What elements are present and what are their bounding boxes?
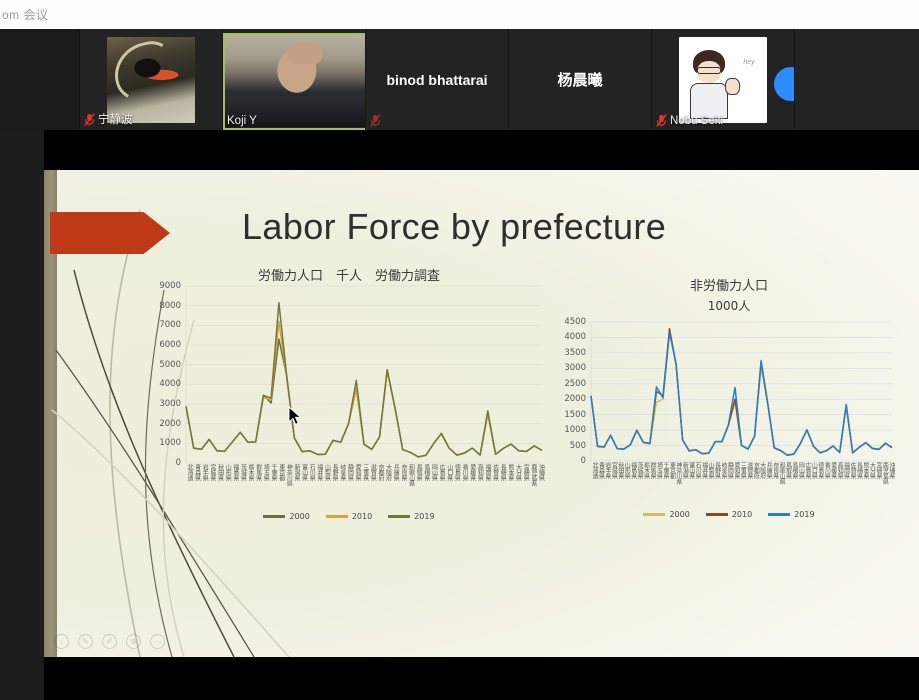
x-axis-tick-label: 鳥取県 bbox=[415, 464, 421, 508]
x-axis-tick-label: 愛媛県 bbox=[469, 464, 475, 508]
x-axis-tick-label: 福井県 bbox=[316, 464, 322, 508]
x-axis-tick-label: 東京都 bbox=[668, 462, 674, 506]
x-axis-tick-label: 京都府 bbox=[377, 464, 383, 508]
participant-tile-3[interactable]: binod bhattarai bbox=[366, 29, 509, 130]
x-axis-tick-label: 山形県 bbox=[623, 462, 629, 506]
participant-tile-2[interactable]: Koji Y bbox=[223, 29, 366, 130]
x-axis-tick-label: 鹿児島県 bbox=[881, 462, 887, 506]
mic-muted-icon bbox=[84, 113, 95, 126]
x-axis-tick-label: 岡山県 bbox=[431, 464, 437, 508]
x-axis-tick-label: 宮城県 bbox=[209, 464, 215, 508]
x-axis-tick-label: 岡山県 bbox=[798, 462, 804, 506]
x-axis-tick-label: 香川県 bbox=[461, 464, 467, 508]
x-axis-tick-label: 京都府 bbox=[752, 462, 758, 506]
pen-tool-icon[interactable]: ✐ bbox=[102, 634, 117, 649]
participant-name: 宁静波 bbox=[98, 111, 133, 127]
x-axis-tick-label: 北海道 bbox=[591, 462, 597, 506]
legend-label: 2010 bbox=[352, 512, 372, 521]
x-axis-tick-label: 栃木県 bbox=[247, 464, 253, 508]
y-axis-tick-label: 3000 bbox=[159, 399, 186, 409]
x-axis-tick-label: 鳥取県 bbox=[785, 462, 791, 506]
x-axis-tick-label: 山形県 bbox=[224, 464, 230, 508]
x-axis-tick-label: 群馬県 bbox=[255, 464, 261, 508]
x-axis-tick-label: 石川県 bbox=[308, 464, 314, 508]
chart-labor-force: 労働力人口 千人 労働力調査 0100020003000400050006000… bbox=[154, 265, 544, 535]
x-axis-tick-label: 静岡県 bbox=[346, 464, 352, 508]
participant-tile-6-avatar[interactable] bbox=[774, 67, 795, 101]
page-title: Labor Force by prefecture bbox=[242, 206, 666, 248]
x-axis-tick-label: 和歌山県 bbox=[778, 462, 784, 506]
chart-non-labor-force: 非労働力人口 1000人 050010001500200025003000350… bbox=[564, 275, 894, 530]
x-axis-tick-label: 北海道 bbox=[186, 464, 192, 508]
x-axis-tick-label: 福岡県 bbox=[843, 462, 849, 506]
x-axis-tick-label: 佐賀県 bbox=[492, 464, 498, 508]
x-axis-tick-label: 熊本県 bbox=[862, 462, 868, 506]
legend-color-swatch bbox=[263, 515, 285, 518]
x-axis-tick-label: 神奈川県 bbox=[285, 464, 291, 508]
x-axis-tick-label: 愛媛県 bbox=[830, 462, 836, 506]
legend-color-swatch bbox=[643, 513, 665, 516]
x-axis-tick-label: 秋田県 bbox=[217, 464, 223, 508]
x-axis-tick-label: 神奈川県 bbox=[675, 462, 681, 506]
participant-name-overlay: Nobu Seki bbox=[656, 114, 723, 127]
mic-muted-icon bbox=[370, 114, 381, 127]
legend-label: 2010 bbox=[732, 510, 752, 519]
participant-tile-5[interactable]: hey Nobu Seki bbox=[652, 29, 795, 130]
y-axis-tick-label: 500 bbox=[570, 441, 591, 451]
y-axis-tick-label: 6000 bbox=[159, 340, 186, 350]
legend-color-swatch bbox=[326, 515, 348, 518]
x-axis-tick-label: 奈良県 bbox=[400, 464, 406, 508]
chart-title: 非労働力人口 bbox=[564, 275, 894, 294]
x-axis-tick-label: 宮崎県 bbox=[875, 462, 881, 506]
x-axis-tick-label: 茨城県 bbox=[636, 462, 642, 506]
x-axis-tick-label: 兵庫県 bbox=[392, 464, 398, 508]
x-axis-tick-label: 埼玉県 bbox=[656, 462, 662, 506]
x-axis-tick-label: 富山県 bbox=[301, 464, 307, 508]
window-title: om 会议 bbox=[0, 6, 49, 23]
x-axis-tick-label: 群馬県 bbox=[649, 462, 655, 506]
x-axis-tick-label: 大阪府 bbox=[759, 462, 765, 506]
x-axis-tick-label: 新潟県 bbox=[293, 464, 299, 508]
legend-color-swatch bbox=[768, 513, 790, 516]
x-axis-tick-label: 愛知県 bbox=[733, 462, 739, 506]
legend-item: 2019 bbox=[388, 512, 434, 521]
x-axis-tick-label: 沖縄県 bbox=[888, 462, 894, 506]
y-axis-tick-label: 1000 bbox=[159, 438, 186, 448]
x-axis-tick-label: 大阪府 bbox=[385, 464, 391, 508]
y-axis-tick-label: 7000 bbox=[159, 320, 186, 330]
x-axis-tick-label: 高知県 bbox=[476, 464, 482, 508]
x-axis-tick-label: 鹿児島県 bbox=[530, 464, 536, 508]
glasses-icon bbox=[697, 67, 722, 74]
x-axis-tick-label: 富山県 bbox=[688, 462, 694, 506]
participant-video-thumbnail bbox=[107, 37, 195, 123]
x-axis-tick-label: 青森県 bbox=[194, 464, 200, 508]
participant-name-overlay: 宁静波 bbox=[84, 111, 133, 127]
x-axis-tick-label: 徳島県 bbox=[453, 464, 459, 508]
participant-name: binod bhattarai bbox=[386, 72, 487, 88]
y-axis-tick-label: 4000 bbox=[564, 332, 591, 342]
window-title-bar: om 会议 bbox=[0, 0, 919, 29]
chart-legend: 200020102019 bbox=[154, 512, 544, 521]
x-axis-tick-label: 大分県 bbox=[868, 462, 874, 506]
x-axis-tick-label: 滋賀県 bbox=[746, 462, 752, 506]
x-axis-tick-label: 福島県 bbox=[232, 464, 238, 508]
x-axis-tick-label: 千葉県 bbox=[270, 464, 276, 508]
y-axis-tick-label: 2500 bbox=[564, 379, 591, 389]
x-axis-tick-label: 熊本県 bbox=[507, 464, 513, 508]
x-axis-tick-label: 栃木県 bbox=[643, 462, 649, 506]
legend-color-swatch bbox=[388, 515, 410, 518]
x-axis-tick-label: 島根県 bbox=[791, 462, 797, 506]
y-axis-tick-label: 4000 bbox=[159, 379, 186, 389]
x-axis-tick-label: 広島県 bbox=[804, 462, 810, 506]
legend-label: 2000 bbox=[669, 510, 689, 519]
x-axis-tick-label: 愛知県 bbox=[354, 464, 360, 508]
powerpoint-slide: Labor Force by prefecture 労働力人口 千人 労働力調査… bbox=[44, 170, 919, 657]
x-axis-tick-label: 佐賀県 bbox=[849, 462, 855, 506]
legend-label: 2019 bbox=[794, 510, 814, 519]
y-axis-tick-label: 3000 bbox=[564, 363, 591, 373]
x-axis-tick-label: 長野県 bbox=[714, 462, 720, 506]
y-axis-tick-label: 4500 bbox=[564, 317, 591, 327]
bird-wing-shape bbox=[108, 37, 181, 107]
y-axis-tick-label: 5000 bbox=[159, 360, 186, 370]
presenter-controls[interactable]: ‹ ✎ ✐ ⊕ ⋯ bbox=[54, 634, 165, 649]
avatar-caption: hey bbox=[743, 59, 754, 66]
hand-gesture-shape bbox=[288, 42, 322, 64]
x-axis-tick-label: 高知県 bbox=[836, 462, 842, 506]
y-axis-tick-label: 1500 bbox=[564, 410, 591, 420]
x-axis-tick-label: 岩手県 bbox=[604, 462, 610, 506]
legend-item: 2019 bbox=[768, 510, 814, 519]
participant-video-thumbnail bbox=[223, 33, 365, 127]
x-axis-tick-label: 石川県 bbox=[694, 462, 700, 506]
y-axis-tick-label: 9000 bbox=[159, 281, 186, 291]
y-axis-tick-label: 3500 bbox=[564, 348, 591, 358]
x-axis-tick-label: 茨城県 bbox=[239, 464, 245, 508]
x-axis-tick-label: 宮崎県 bbox=[522, 464, 528, 508]
zoom-participant-filmstrip: 宁静波 Koji Y binod bhattarai bbox=[0, 29, 919, 130]
chart-subtitle: 1000人 bbox=[564, 297, 894, 314]
x-axis-tick-label: 埼玉県 bbox=[262, 464, 268, 508]
legend-color-swatch bbox=[706, 513, 728, 516]
participant-name-overlay: Koji Y bbox=[227, 115, 257, 127]
x-axis-tick-label: 静岡県 bbox=[727, 462, 733, 506]
x-axis-tick-label: 岩手県 bbox=[201, 464, 207, 508]
participant-tile-1[interactable]: 宁静波 bbox=[80, 29, 223, 130]
x-axis-tick-label: 長崎県 bbox=[856, 462, 862, 506]
chart-x-axis-labels: 北海道青森県岩手県宮城県秋田県山形県福島県茨城県栃木県群馬県埼玉県千葉県東京都神… bbox=[154, 464, 544, 508]
more-options-icon[interactable]: ⋯ bbox=[150, 634, 165, 649]
webcam-video-feed bbox=[223, 33, 365, 127]
y-axis-tick-label: 1000 bbox=[564, 425, 591, 435]
screen-root: om 会议 宁静波 bbox=[0, 0, 919, 700]
participant-name: 杨晨曦 bbox=[557, 69, 602, 90]
x-axis-tick-label: 山梨県 bbox=[324, 464, 330, 508]
participant-name: Koji Y bbox=[227, 115, 257, 127]
x-axis-tick-label: 島根県 bbox=[423, 464, 429, 508]
chart-title: 労働力人口 千人 労働力調査 bbox=[154, 265, 544, 284]
legend-label: 2019 bbox=[414, 512, 434, 521]
x-axis-tick-label: 岐阜県 bbox=[339, 464, 345, 508]
x-axis-tick-label: 奈良県 bbox=[772, 462, 778, 506]
x-axis-tick-label: 沖縄県 bbox=[537, 464, 543, 508]
x-axis-tick-label: 福井県 bbox=[701, 462, 707, 506]
x-axis-tick-label: 宮城県 bbox=[610, 462, 616, 506]
participant-name: Nobu Seki bbox=[670, 115, 723, 127]
x-axis-tick-label: 三重県 bbox=[362, 464, 368, 508]
chart-x-axis-labels: 北海道青森県岩手県宮城県秋田県山形県福島県茨城県栃木県群馬県埼玉県千葉県東京都神… bbox=[564, 462, 894, 506]
bird-avatar-image bbox=[107, 37, 195, 123]
mic-muted-icon bbox=[656, 114, 667, 127]
x-axis-tick-label: 長野県 bbox=[331, 464, 337, 508]
screen-share-stage: Labor Force by prefecture 労働力人口 千人 労働力調査… bbox=[44, 130, 919, 700]
y-axis-tick-label: 2000 bbox=[564, 394, 591, 404]
x-axis-tick-label: 和歌山県 bbox=[408, 464, 414, 508]
x-axis-tick-label: 三重県 bbox=[739, 462, 745, 506]
legend-item: 2010 bbox=[706, 510, 752, 519]
chart-legend: 200020102019 bbox=[564, 510, 894, 519]
cartoon-avatar-image: hey bbox=[679, 37, 767, 123]
participant-avatar-thumbnail: hey bbox=[679, 37, 767, 123]
legend-label: 2000 bbox=[289, 512, 309, 521]
x-axis-tick-label: 新潟県 bbox=[681, 462, 687, 506]
y-axis-tick-label: 8000 bbox=[159, 301, 186, 311]
chart-plot-area: 050010001500200025003000350040004500 bbox=[564, 320, 894, 462]
x-axis-tick-label: 秋田県 bbox=[617, 462, 623, 506]
x-axis-tick-label: 兵庫県 bbox=[765, 462, 771, 506]
x-axis-tick-label: 山梨県 bbox=[707, 462, 713, 506]
chart-plot-area: 0100020003000400050006000700080009000 bbox=[154, 284, 544, 464]
x-axis-tick-label: 滋賀県 bbox=[369, 464, 375, 508]
x-axis-tick-label: 山口県 bbox=[810, 462, 816, 506]
filmstrip-left-gutter bbox=[0, 29, 80, 130]
x-axis-tick-label: 青森県 bbox=[597, 462, 603, 506]
x-axis-tick-label: 広島県 bbox=[438, 464, 444, 508]
x-axis-tick-label: 福岡県 bbox=[484, 464, 490, 508]
x-axis-tick-label: 福島県 bbox=[630, 462, 636, 506]
x-axis-tick-label: 山口県 bbox=[446, 464, 452, 508]
x-axis-tick-label: 徳島県 bbox=[817, 462, 823, 506]
zoom-in-icon[interactable]: ⊕ bbox=[126, 634, 141, 649]
participant-tile-4[interactable]: 杨晨曦 bbox=[509, 29, 652, 130]
y-axis-tick-label: 2000 bbox=[159, 419, 186, 429]
legend-item: 2000 bbox=[643, 510, 689, 519]
legend-item: 2010 bbox=[326, 512, 372, 521]
previous-slide-icon[interactable]: ‹ bbox=[54, 634, 69, 649]
x-axis-tick-label: 大分県 bbox=[515, 464, 521, 508]
x-axis-tick-label: 東京都 bbox=[278, 464, 284, 508]
x-axis-tick-label: 岐阜県 bbox=[720, 462, 726, 506]
legend-item: 2000 bbox=[263, 512, 309, 521]
x-axis-tick-label: 香川県 bbox=[823, 462, 829, 506]
x-axis-tick-label: 長崎県 bbox=[499, 464, 505, 508]
waving-hand-shape bbox=[725, 78, 740, 95]
pointer-options-icon[interactable]: ✎ bbox=[78, 634, 93, 649]
x-axis-tick-label: 千葉県 bbox=[662, 462, 668, 506]
